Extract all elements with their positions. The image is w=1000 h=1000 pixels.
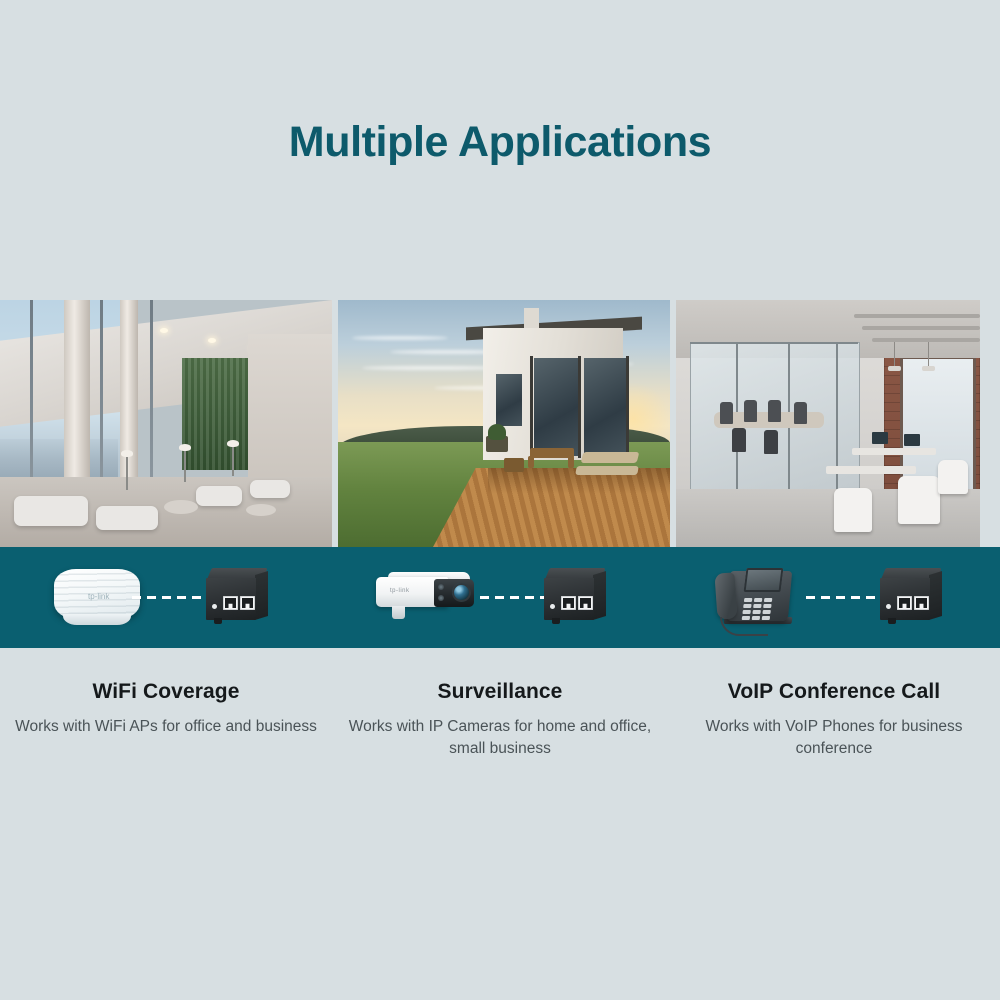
monitor [872,432,888,444]
application-description: Works with IP Cameras for home and offic… [332,716,668,760]
device-group-wifi: tp-link [0,547,332,648]
ethernet-link-line [806,596,884,599]
poe-foot [214,618,222,624]
rj45-port [578,596,593,610]
phone-key [763,598,772,602]
armchair [196,486,242,506]
conference-chair [744,400,757,422]
window-frame [626,356,629,458]
application-wifi-coverage: WiFi Coverage Works with WiFi APs for of… [0,680,332,760]
application-title: WiFi Coverage [0,680,332,704]
application-title: VoIP Conference Call [668,680,1000,704]
poe-front-face [880,578,930,620]
office-desk [852,448,936,455]
rj45-port [897,596,912,610]
lamp-shade [121,450,133,457]
monitor [904,434,920,446]
application-voip-conference-call: VoIP Conference Call Works with VoIP Pho… [668,680,1000,760]
sun-lounger [575,466,639,475]
phone-key [742,610,751,614]
sofa [96,506,158,530]
conference-chair [720,402,733,424]
conference-chair [768,400,781,422]
rj45-port [561,596,576,610]
cloud [352,336,448,340]
device-group-voip [676,547,1000,648]
ceiling-duct [872,338,980,342]
camera-lens [452,583,471,602]
phone-handset [714,572,737,619]
page-title: Multiple Applications [0,118,1000,167]
house-window [534,358,578,456]
ir-led-icon [438,584,444,590]
camera-mount-bracket [392,606,405,619]
house-deck-photo [338,300,670,547]
table-leg [568,456,574,468]
table-leg [528,456,534,468]
poe-front-face [544,578,594,620]
pendant-shade [922,366,935,371]
glass-mullion [690,342,858,344]
tp-link-logo: tp-link [390,588,410,594]
ceiling-duct [862,326,980,330]
phone-cord [720,617,768,636]
phone-key [754,598,763,602]
device-diagram-band: tp-link tp-link [0,547,1000,648]
ethernet-link-line [132,596,210,599]
application-title: Surveillance [332,680,668,704]
phone-key [743,604,752,608]
office-desk [826,466,916,474]
window-frame [578,356,581,458]
poe-injector-icon [880,568,942,620]
photo-strip [0,300,1000,547]
back-wall [248,334,332,484]
phone-key [753,604,762,608]
coffee-table [246,504,276,516]
window-mullion [100,300,103,506]
poe-led-icon [886,604,891,609]
lamp-shade [227,440,239,447]
poe-led-icon [212,604,217,609]
sun-lounger [581,452,640,463]
wifi-access-point-icon: tp-link [54,567,140,625]
window-mullion [150,300,153,496]
deck-chair [504,458,524,472]
pendant-shade [888,366,901,371]
application-captions: WiFi Coverage Works with WiFi APs for of… [0,680,1000,760]
conference-chair [764,430,778,454]
poe-foot [888,618,896,624]
office-chair [898,476,940,524]
green-wall [182,358,248,470]
poe-injector-icon [544,568,606,620]
conference-chair [794,402,807,424]
application-description: Works with WiFi APs for office and busin… [0,716,332,738]
office-lounge-photo [0,300,332,547]
application-surveillance: Surveillance Works with IP Cameras for h… [332,680,668,760]
floor-lamp [126,456,128,490]
phone-key [752,610,761,614]
rj45-port [914,596,929,610]
poe-led-icon [550,604,555,609]
pendant-light [928,342,929,368]
poe-side-face [593,571,606,620]
conference-chair [732,428,746,452]
ap-base [63,614,131,625]
phone-screen [744,568,784,592]
poe-injector-icon [206,568,268,620]
ethernet-link-line [480,596,548,599]
rj45-port [240,596,255,610]
rj45-port [223,596,238,610]
sofa [14,496,88,526]
phone-key [762,610,771,614]
downlight-icon [160,328,168,333]
downlight-icon [208,338,216,343]
window-frame [530,356,533,458]
industrial-office-photo [676,300,980,547]
ip-camera-icon: tp-link [376,569,484,625]
voip-phone-icon [710,559,806,637]
device-group-surveillance: tp-link [338,547,670,648]
office-chair [834,488,872,532]
office-chair [938,460,968,494]
phone-key [763,604,772,608]
coffee-table [164,500,198,514]
poe-side-face [929,571,942,620]
ceiling-duct [854,314,980,318]
house-window [584,358,626,456]
armchair [250,480,290,498]
application-description: Works with VoIP Phones for business conf… [668,716,1000,760]
ir-led-icon [438,595,444,601]
tp-link-logo: tp-link [88,592,109,601]
floor-lamp [184,450,186,482]
house-window [496,374,522,426]
lamp-shade [179,444,191,451]
poe-foot [552,618,560,624]
poe-side-face [255,571,268,620]
poe-front-face [206,578,256,620]
phone-key [744,598,753,602]
shrub [488,424,506,440]
pendant-light [894,342,895,368]
floor-lamp [232,446,234,476]
photo-strip-tail [980,300,1000,547]
